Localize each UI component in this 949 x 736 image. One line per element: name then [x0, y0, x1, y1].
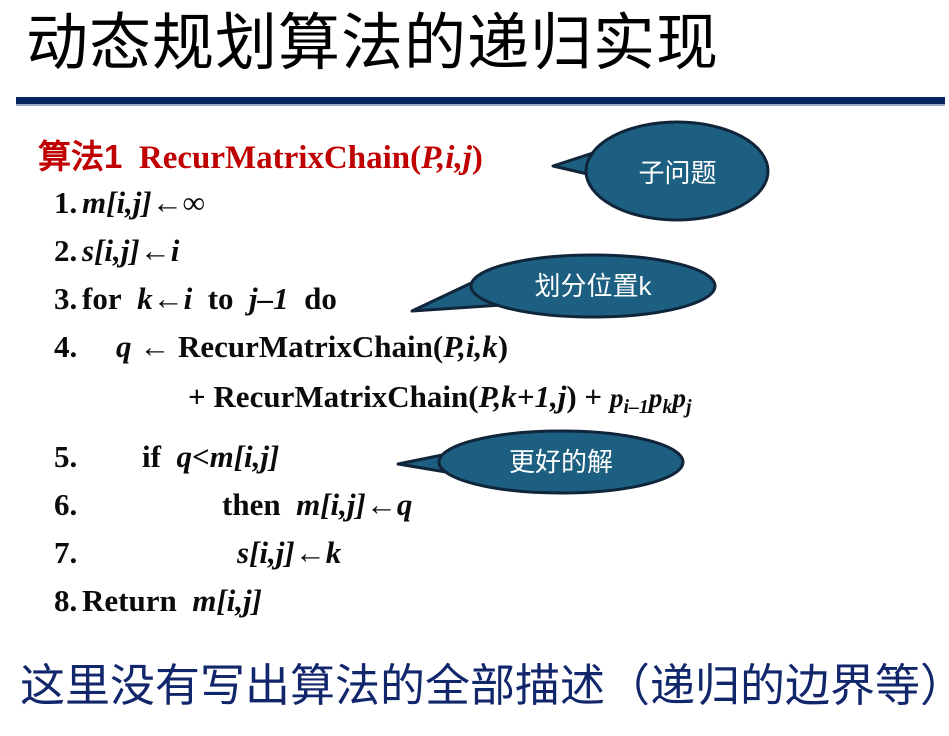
step-2-index: [i,j]: [94, 233, 140, 268]
step-6-arrow: ←: [366, 487, 397, 522]
step-4b-call: RecurMatrixChain(: [213, 379, 478, 414]
algorithm-header-close: ): [472, 140, 483, 176]
step-8-index: [i,j]: [216, 583, 262, 618]
algorithm-step-7: 7.s[i,j]←k: [38, 529, 898, 577]
callout-split-position[interactable]: 划分位置k: [410, 253, 718, 323]
algorithm-step-4-continuation: + RecurMatrixChain(P,k+1,j) + pi–1pkpj: [38, 371, 898, 433]
algorithm-step-8: 8.Return m[i,j]: [38, 577, 898, 625]
step-3-keyword: for: [82, 281, 122, 316]
step-7-value: k: [326, 535, 342, 570]
page-title: 动态规划算法的递归实现: [26, 6, 719, 82]
step-7-index: [i,j]: [249, 535, 295, 570]
title-divider: [16, 97, 945, 106]
step-4b-p1: p: [610, 383, 624, 413]
step-4b-close: ): [566, 379, 576, 414]
step-3-arrow: ←: [153, 281, 184, 316]
step-3-do: do: [304, 281, 337, 316]
step-4-arrow: ←: [139, 329, 170, 364]
step-number-2: 2.: [38, 227, 82, 275]
step-3-bound: j–1: [249, 281, 289, 316]
step-4b-args: P,k+1,j: [479, 379, 567, 414]
step-6-var: m: [296, 487, 320, 522]
algorithm-header-name: RecurMatrixChain(: [139, 140, 421, 176]
callout-subproblem-label: 子问题: [585, 160, 770, 186]
step-6-index: [i,j]: [320, 487, 366, 522]
step-5-keyword: if: [142, 439, 161, 474]
step-4b-p3-subscript: j: [686, 396, 692, 418]
step-number-3: 3.: [38, 275, 82, 323]
step-number-6: 6.: [38, 481, 82, 529]
algorithm-header-args: P,i,j: [421, 140, 472, 176]
callout-split-position-label: 划分位置k: [471, 273, 715, 299]
step-number-8: 8.: [38, 577, 82, 625]
step-4b-p2-subscript: k: [662, 396, 672, 418]
step-3-to: to: [208, 281, 234, 316]
step-1-value: ∞: [183, 185, 205, 220]
step-number-7: 7.: [38, 529, 82, 577]
callout-better-solution-label: 更好的解: [439, 449, 683, 475]
step-1-index: [i,j]: [106, 185, 152, 220]
slide-canvas: 动态规划算法的递归实现 算法1 RecurMatrixChain(P,i,j) …: [0, 0, 949, 736]
algorithm-header-prefix: 算法1: [38, 138, 122, 175]
step-1-var: m: [82, 185, 106, 220]
step-4b-p2: p: [649, 383, 663, 413]
step-8-keyword: Return: [82, 583, 177, 618]
step-1-arrow: ←: [152, 185, 183, 220]
step-7-arrow: ←: [295, 535, 326, 570]
step-4b-plus2: +: [584, 379, 602, 414]
step-number-4: 4.: [38, 323, 82, 371]
step-number-5: 5.: [38, 433, 82, 481]
callout-subproblem[interactable]: 子问题: [553, 120, 771, 226]
step-5-operator: <: [192, 439, 210, 474]
step-number-1: 1.: [38, 179, 82, 227]
step-4-args: P,i,k: [443, 329, 498, 364]
step-3-i: i: [184, 281, 193, 316]
callout-better-solution[interactable]: 更好的解: [396, 425, 686, 495]
algorithm-step-4: 4.q ← RecurMatrixChain(P,i,k): [38, 323, 898, 371]
step-2-arrow: ←: [140, 233, 171, 268]
step-6-keyword: then: [222, 487, 281, 522]
step-5-q: q: [176, 439, 192, 474]
step-4b-p1-subscript: i–1: [623, 396, 648, 418]
step-4b-p3: p: [672, 383, 686, 413]
footer-note: 这里没有写出算法的全部描述（递归的边界等）: [20, 656, 949, 716]
step-4b-plus: +: [188, 379, 206, 414]
step-4-q: q: [116, 329, 132, 364]
step-2-var: s: [82, 233, 94, 268]
step-2-value: i: [171, 233, 180, 268]
step-5-index: [i,j]: [234, 439, 280, 474]
step-8-var: m: [192, 583, 216, 618]
step-5-var: m: [210, 439, 234, 474]
step-4-call: RecurMatrixChain(: [178, 329, 443, 364]
step-4-close: ): [498, 329, 508, 364]
step-7-var: s: [237, 535, 249, 570]
step-3-k: k: [137, 281, 153, 316]
